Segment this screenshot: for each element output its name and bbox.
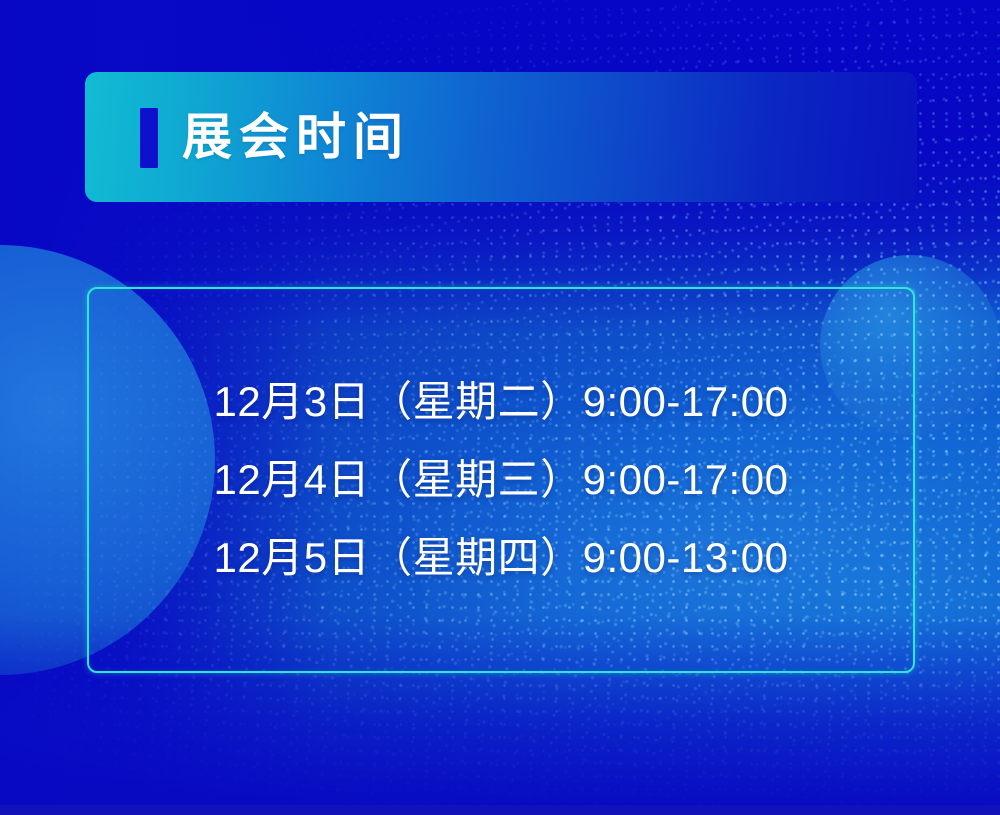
schedule-frame: 12月3日（星期二）9:00-17:00 12月4日（星期三）9:00-17:0… [87,287,915,673]
bottom-edge-strip [0,805,1000,815]
title-accent-bar [140,108,158,168]
schedule-list: 12月3日（星期二）9:00-17:00 12月4日（星期三）9:00-17:0… [89,289,913,671]
schedule-line-2: 12月4日（星期三）9:00-17:00 [214,459,789,501]
schedule-line-1: 12月3日（星期二）9:00-17:00 [214,381,789,423]
title-banner: 展会时间 [85,72,917,202]
schedule-line-3: 12月5日（星期四）9:00-13:00 [214,537,789,579]
poster-canvas: 展会时间 12月3日（星期二）9:00-17:00 12月4日（星期三）9:00… [0,0,1000,815]
page-title: 展会时间 [182,96,410,178]
